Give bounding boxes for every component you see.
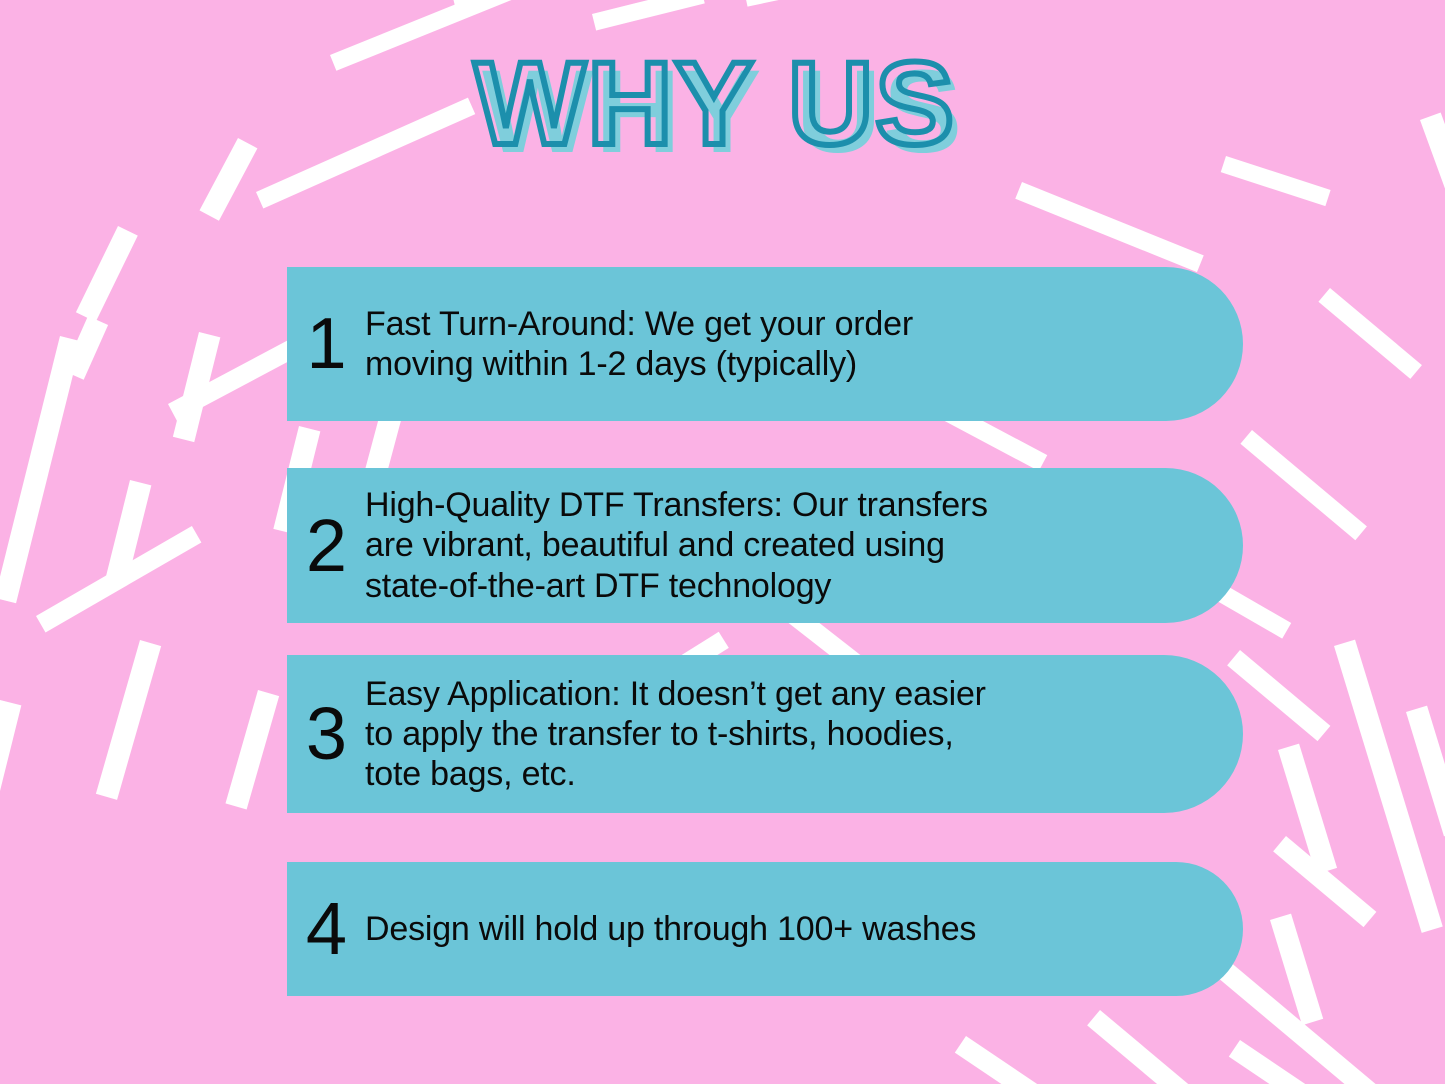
list-item-text: Fast Turn-Around: We get your order movi…: [365, 304, 1243, 384]
list-item-number: 3: [287, 697, 365, 771]
list-item-text: Design will hold up through 100+ washes: [365, 909, 1243, 949]
page-title: WHY US WHY US: [0, 44, 1445, 184]
list-item: 3 Easy Application: It doesn’t get any e…: [287, 655, 1243, 813]
title-outline-layer: WHY US: [474, 44, 956, 170]
list-item-text: Easy Application: It doesn’t get any eas…: [365, 674, 1243, 794]
list-item-number: 2: [287, 509, 365, 583]
list-item: 4 Design will hold up through 100+ washe…: [287, 862, 1243, 996]
list-item: 1 Fast Turn-Around: We get your order mo…: [287, 267, 1243, 421]
list-item: 2 High-Quality DTF Transfers: Our transf…: [287, 468, 1243, 623]
why-us-poster: WHY US WHY US 1 Fast Turn-Around: We get…: [0, 0, 1445, 1084]
list-item-number: 1: [287, 308, 365, 380]
list-item-text: High-Quality DTF Transfers: Our transfer…: [365, 485, 1243, 605]
list-item-number: 4: [287, 892, 365, 966]
title-why-us: WHY US WHY US: [403, 44, 1043, 184]
